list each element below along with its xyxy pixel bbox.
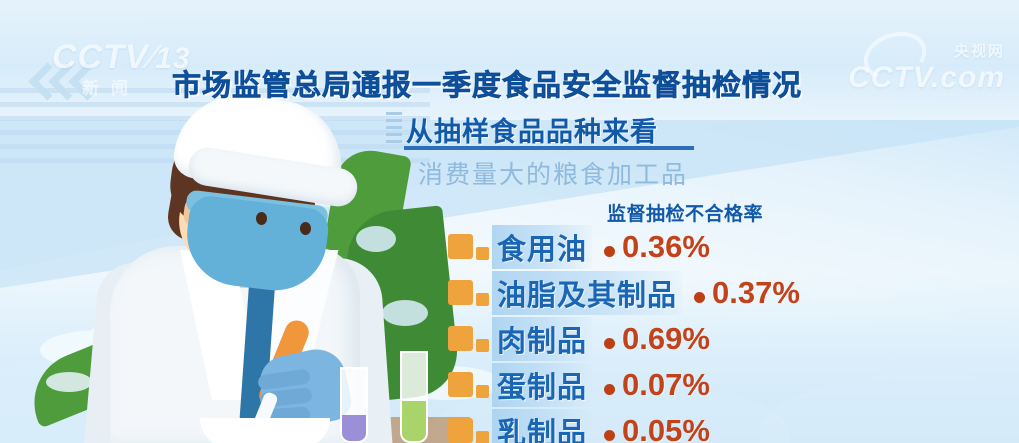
square-bullet-icon [448, 234, 492, 260]
leaf-notch-4 [46, 372, 92, 392]
leaf-notch-1 [356, 226, 396, 252]
rate-value: 0.37% [712, 275, 800, 311]
dot-icon [604, 384, 615, 395]
subheadline-underline [404, 146, 694, 150]
square-bullet-icon [448, 280, 492, 306]
cctv-com-text: CCTV.com [848, 61, 1005, 95]
leaf-notch-2 [382, 300, 428, 326]
rate-value: 0.36% [622, 229, 710, 265]
third-line-text: 消费量大的粮食加工品 [418, 155, 688, 191]
petri-dish [200, 418, 330, 443]
dot-icon [604, 338, 615, 349]
square-bullet-icon [448, 326, 492, 352]
subheadline-ticks [386, 112, 402, 144]
rate-column-header: 监督抽检不合格率 [607, 199, 763, 226]
list-item: 肉制品 0.69% [448, 316, 1008, 362]
square-bullet-icon [448, 372, 492, 398]
rate-value: 0.69% [622, 321, 710, 357]
list-item: 油脂及其制品 0.37% [448, 270, 1008, 316]
square-bullet-icon [448, 418, 492, 443]
test-tube-1 [340, 367, 368, 443]
cctv-com-cn-text: 央视网 [848, 40, 1005, 61]
category-label: 肉制品 [492, 317, 592, 361]
test-tube-1-liquid [342, 415, 366, 441]
cctv-com-watermark: 央视网 CCTV.com [848, 40, 1005, 95]
dot-icon [694, 292, 705, 303]
list-item: 食用油 0.36% [448, 224, 1008, 270]
rate-value: 0.05% [622, 413, 710, 443]
category-label: 食用油 [492, 225, 592, 269]
broadcast-graphic: CCTV∕13 新闻 央视网 CCTV.com [0, 0, 1019, 443]
dot-icon [604, 430, 615, 441]
category-label: 乳制品 [492, 409, 592, 443]
category-label: 油脂及其制品 [492, 271, 682, 315]
test-tube-2 [400, 351, 428, 443]
test-tube-2-liquid [402, 401, 426, 441]
rate-list: 食用油 0.36% 油脂及其制品 0.37% 肉制品 0.69% 蛋制品 0.0… [448, 224, 1008, 443]
list-item: 蛋制品 0.07% [448, 362, 1008, 408]
rate-value: 0.07% [622, 367, 710, 403]
list-item: 乳制品 0.05% [448, 408, 1008, 443]
dot-icon [604, 246, 615, 257]
eye-left [256, 212, 267, 225]
eye-right [300, 222, 311, 235]
category-label: 蛋制品 [492, 363, 592, 407]
page-title: 市场监管总局通报一季度食品安全监督抽检情况 [172, 62, 802, 104]
subheadline: 从抽样食品品种来看 [406, 110, 658, 149]
